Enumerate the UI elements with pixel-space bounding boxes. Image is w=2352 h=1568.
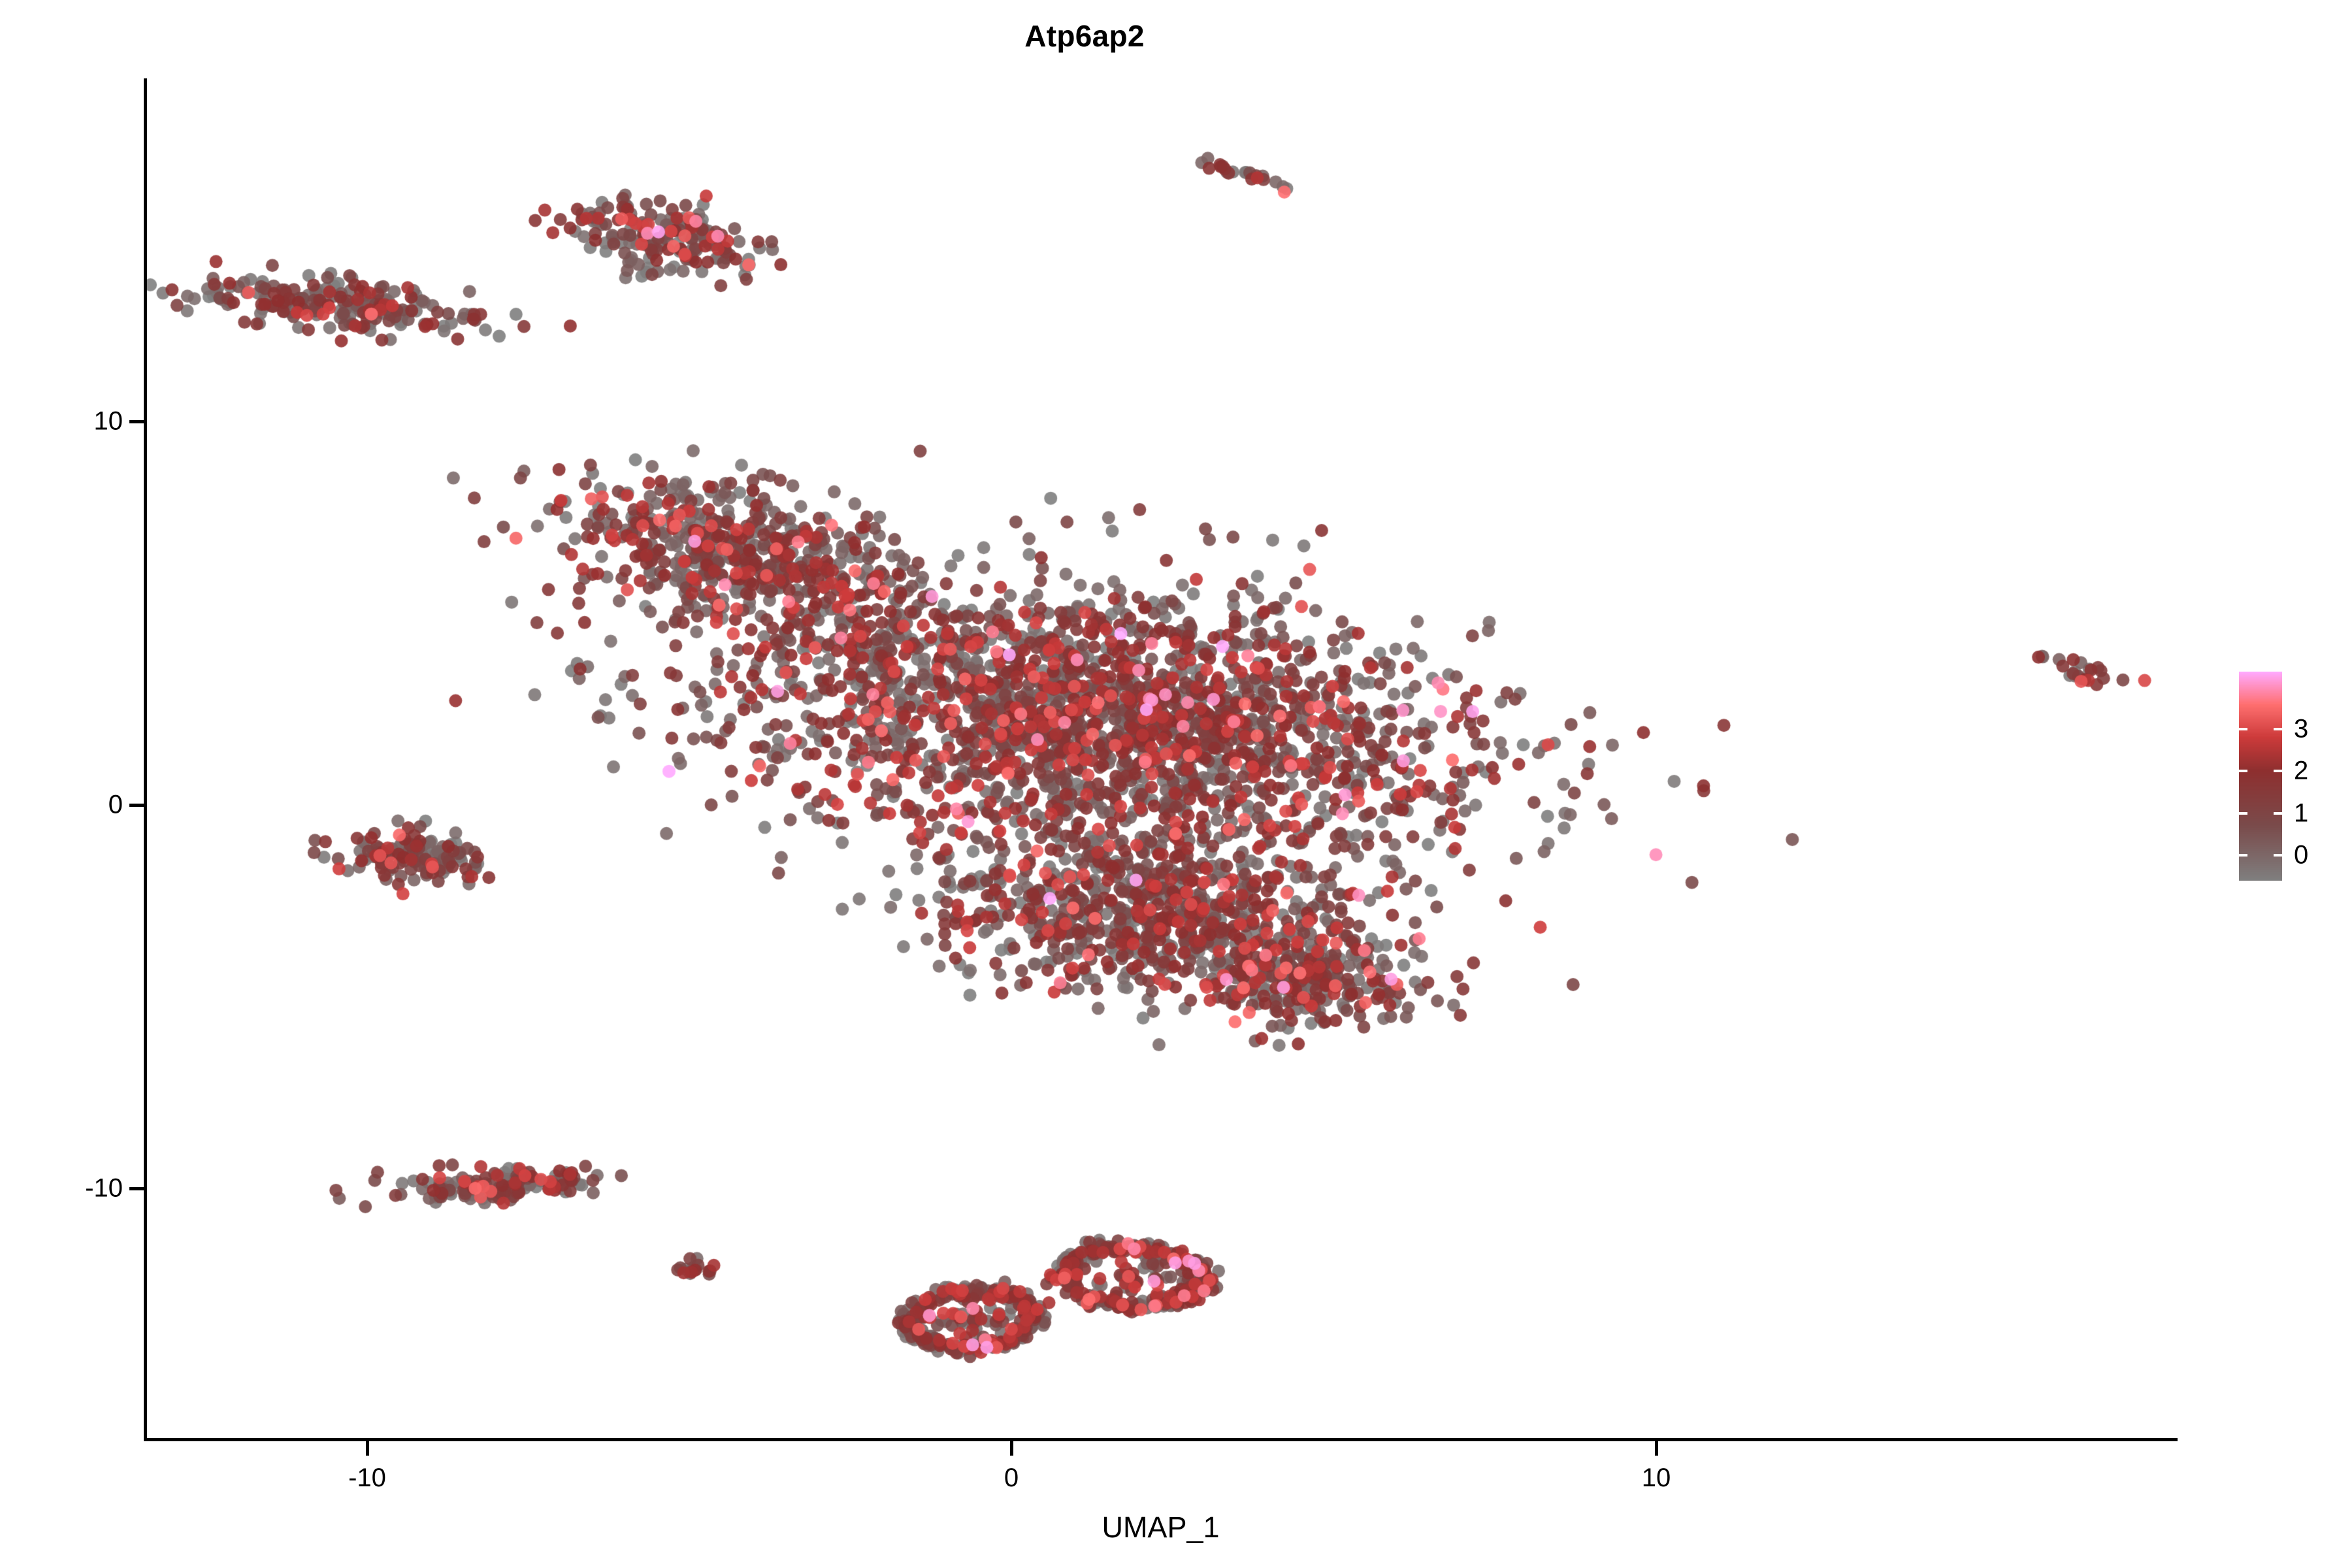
legend-tick-0-left [2239,854,2247,857]
x-tick-mark-neg10 [366,1441,369,1456]
page-title: Atp6ap2 [0,18,2169,54]
y-tick-mark-neg10 [129,1187,144,1190]
x-tick-label-0: 0 [1004,1463,1019,1493]
legend-tick-2-left [2239,770,2247,772]
y-tick-label-10: 10 [94,407,123,436]
legend-tick-3-left [2239,728,2247,730]
x-tick-label-10: 10 [1642,1463,1671,1493]
legend-tick-1-left [2239,812,2247,815]
x-tick-label-neg10: -10 [348,1463,386,1493]
color-legend: 3 2 1 0 [2239,672,2282,881]
legend-tick-3-right [2274,728,2282,730]
y-tick-mark-10 [129,420,144,423]
y-tick-label-neg10: -10 [85,1174,123,1203]
legend-tick-0-right [2274,854,2282,857]
x-axis-line [144,1438,2178,1441]
legend-label-0: 0 [2294,841,2308,870]
x-tick-mark-0 [1010,1441,1013,1456]
legend-label-3: 3 [2294,715,2308,744]
legend-tick-2-right [2274,770,2282,772]
legend-label-2: 2 [2294,757,2308,786]
y-axis-line [144,78,147,1441]
y-tick-mark-0 [129,804,144,807]
x-axis-title: UMAP_1 [144,1511,2178,1544]
legend-gradient-bar [2239,672,2282,881]
umap-feature-plot: Atp6ap2 10 0 -10 -10 0 10 UMAP_1 UMAP_2 … [0,0,2352,1568]
x-tick-mark-10 [1655,1441,1658,1456]
y-tick-label-0: 0 [108,791,123,820]
scatter-plot-canvas [145,78,2177,1439]
legend-tick-1-right [2274,812,2282,815]
legend-label-1: 1 [2294,799,2308,828]
